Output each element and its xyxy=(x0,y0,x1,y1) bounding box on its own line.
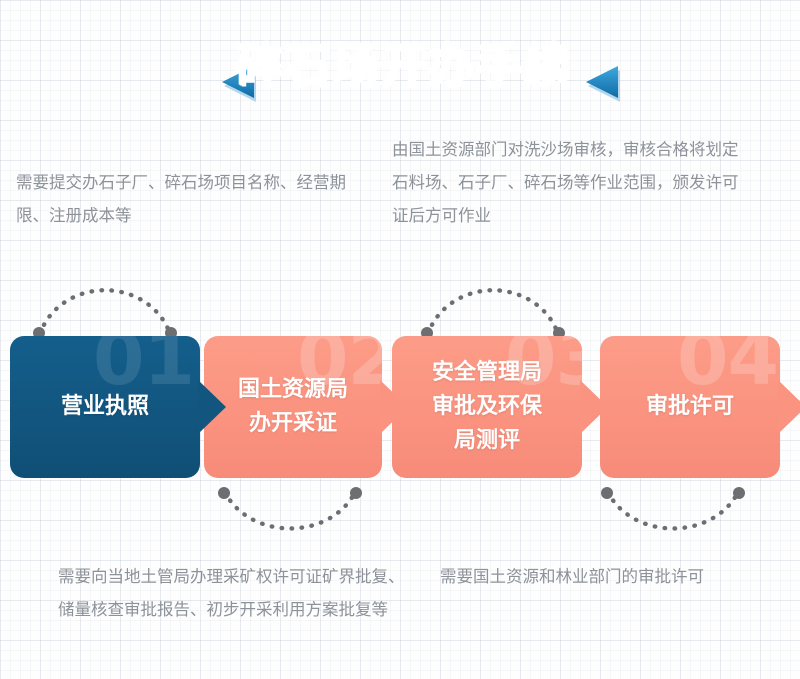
step-3-safety-and-environment-review[interactable]: 03 安全管理局审批及环保局测评 xyxy=(392,336,582,478)
arc-step4-to-bottom-note xyxy=(598,486,748,556)
arc-step2-to-step3 xyxy=(418,262,568,340)
description-step1: 需要提交办石子厂、碎石场项目名称、经营期限、注册成本等 xyxy=(16,166,376,232)
description-step3: 由国土资源部门对洗沙场审核，审核合格将划定石料场、石子厂、碎石场等作业范围，颁发… xyxy=(392,133,752,232)
step-2-land-resources-bureau[interactable]: 02 国土资源局办开采证 xyxy=(204,336,382,478)
step-4-label: 审批许可 xyxy=(600,336,780,478)
step-3-label: 安全管理局审批及环保局测评 xyxy=(392,336,582,478)
step-4-arrow-tip xyxy=(778,380,800,434)
description-step4: 需要国土资源和林业部门的审批许可 xyxy=(440,560,790,593)
arc-step2-to-bottom-note xyxy=(215,486,365,556)
step-3-arrow-tip xyxy=(580,380,608,434)
title-row: 碎石场开办手续 碎石场开办手续 xyxy=(0,22,800,102)
description-step2: 需要向当地土管局办理采矿权许可证矿界批复、储量核查审批报告、初步开采利用方案批复… xyxy=(58,560,408,626)
page-title-text: 碎石场开办手续 xyxy=(232,35,568,90)
infographic-page: 碎石场开办手续 碎石场开办手续 需要提交办石子厂、碎石场项目名称、经营期限、注册… xyxy=(0,0,800,679)
step-2-arrow-tip xyxy=(380,380,408,434)
step-1-business-license[interactable]: 01 营业执照 xyxy=(10,336,200,478)
step-2-label: 国土资源局办开采证 xyxy=(204,336,382,478)
step-4-approval-permit[interactable]: 04 审批许可 xyxy=(600,336,780,478)
page-title: 碎石场开办手续 碎石场开办手续 xyxy=(232,39,568,86)
arc-step1-to-step2 xyxy=(30,262,180,340)
step-1-arrow-tip xyxy=(198,380,226,434)
step-1-label: 营业执照 xyxy=(10,336,200,478)
process-steps: 01 营业执照 02 国土资源局办开采证 03 安全管理局审批及环保局测评 04… xyxy=(0,336,800,478)
